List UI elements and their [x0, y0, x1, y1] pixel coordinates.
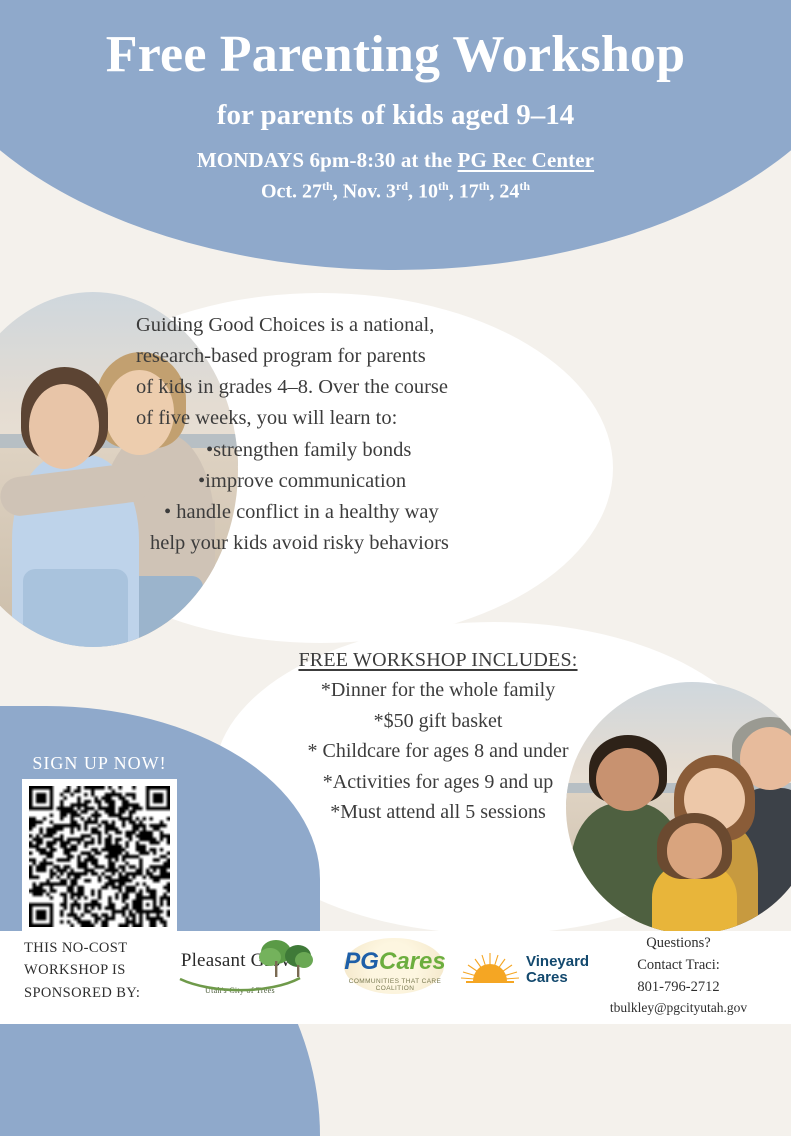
date-separator: ,: [449, 180, 459, 202]
qr-code-frame[interactable]: [22, 779, 177, 934]
logo-pleasant-grove: Pleasant Grove Utah's City of Trees: [160, 950, 320, 995]
schedule-line: MONDAYS 6pm-8:30 at the PG Rec Center: [0, 148, 791, 173]
description-bullet: •strengthen family bonds: [136, 435, 576, 466]
page-title: Free Parenting Workshop: [0, 0, 791, 83]
swoosh-icon: [178, 976, 302, 994]
date-day: 10: [418, 180, 438, 202]
description-line: of kids in grades 4–8. Over the course: [136, 372, 576, 403]
figure-teen-head: [29, 384, 99, 469]
page-subtitle: for parents of kids aged 9–14: [0, 99, 791, 132]
sponsor-label-line: THIS NO-COST: [24, 937, 140, 959]
description-line: research-based program for parents: [136, 341, 576, 372]
description-bullet: •improve communication: [136, 466, 576, 497]
includes-item: *Activities for ages 9 and up: [246, 767, 630, 797]
date-ordinal: th: [438, 179, 449, 193]
signup-label: SIGN UP NOW!: [22, 753, 177, 774]
sponsor-label: THIS NO-COST WORKSHOP IS SPONSORED BY:: [24, 937, 140, 1004]
date-month: Oct.: [261, 180, 302, 202]
trees-icon: [256, 938, 314, 980]
sponsor-label-line: SPONSORED BY:: [24, 982, 140, 1004]
includes-heading: FREE WORKSHOP INCLUDES:: [246, 645, 630, 675]
date-separator: ,: [408, 180, 418, 202]
includes-item: * Childcare for ages 8 and under: [246, 736, 630, 766]
description-bullet: • handle conflict in a healthy way: [136, 497, 576, 528]
date-separator: ,: [333, 180, 343, 202]
contact-phone[interactable]: 801-796-2712: [566, 977, 791, 999]
description-block: Guiding Good Choices is a national, rese…: [136, 310, 576, 559]
includes-item: *$50 gift basket: [246, 706, 630, 736]
figure-child-head: [667, 823, 722, 878]
schedule-prefix: MONDAYS 6pm-8:30 at the: [197, 148, 458, 172]
contact-block: Questions? Contact Traci: 801-796-2712 t…: [566, 933, 791, 1019]
logo-pgcares-suffix: Cares: [379, 948, 446, 975]
date-ordinal: rd: [396, 179, 408, 193]
logo-pgcares-prefix: PG: [344, 948, 379, 975]
description-line: of five weeks, you will learn to:: [136, 403, 576, 434]
date-day: 3: [386, 180, 396, 202]
figure-teen-jeans: [23, 569, 127, 647]
sunrise-icon: [460, 950, 520, 990]
date-day: 24: [499, 180, 519, 202]
venue-name: PG Rec Center: [458, 148, 595, 172]
session-dates: Oct. 27th, Nov. 3rd, 10th, 17th, 24th: [0, 179, 791, 204]
date-ordinal: th: [479, 179, 490, 193]
date-separator: ,: [489, 180, 499, 202]
date-ordinal: th: [322, 179, 333, 193]
contact-question: Questions?: [566, 933, 791, 955]
contact-person: Contact Traci:: [566, 955, 791, 977]
qr-code-icon[interactable]: [29, 786, 170, 927]
contact-email[interactable]: tbulkley@pgcityutah.gov: [566, 998, 791, 1018]
date-ordinal: th: [519, 179, 530, 193]
logo-pgcares: PGCares COMMUNITIES THAT CARE COALITION: [330, 948, 460, 992]
includes-item: *Must attend all 5 sessions: [246, 797, 630, 827]
description-bullet: help your kids avoid risky behaviors: [136, 528, 576, 559]
includes-block: FREE WORKSHOP INCLUDES: *Dinner for the …: [246, 645, 630, 827]
date-day: 27: [302, 180, 322, 202]
logo-pgcares-tagline: COMMUNITIES THAT CARE COALITION: [330, 978, 460, 992]
sponsor-label-line: WORKSHOP IS: [24, 959, 140, 981]
includes-item: *Dinner for the whole family: [246, 675, 630, 705]
logo-pgcares-wordmark: PGCares: [330, 948, 460, 976]
description-line: Guiding Good Choices is a national,: [136, 310, 576, 341]
date-month: Nov.: [343, 180, 386, 202]
date-day: 17: [459, 180, 479, 202]
header: Free Parenting Workshop for parents of k…: [0, 0, 791, 203]
signup-block[interactable]: SIGN UP NOW!: [22, 753, 177, 934]
